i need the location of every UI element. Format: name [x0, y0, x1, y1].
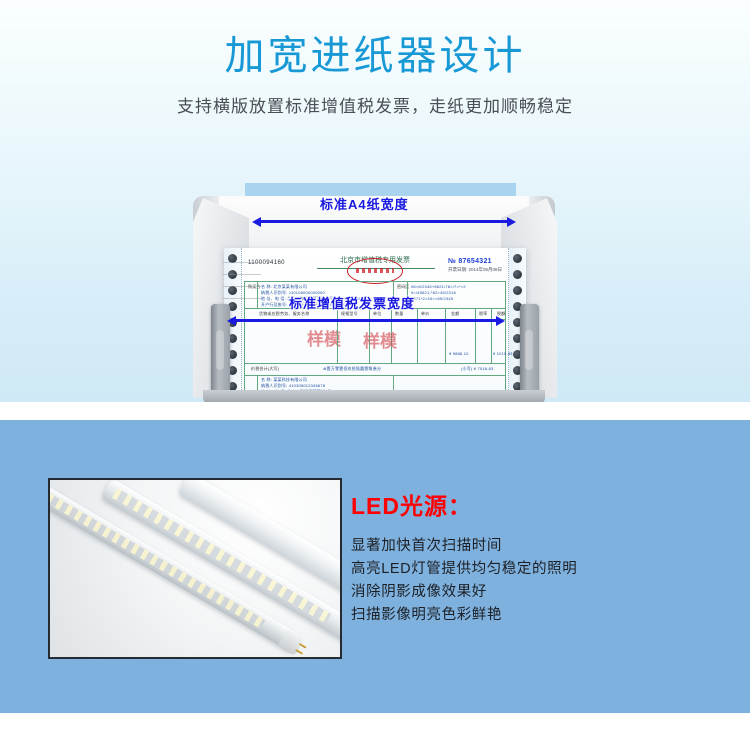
- led-tubes-photo: [48, 478, 342, 659]
- serial-prefix: №: [448, 258, 456, 265]
- led-light-source-section: LED光源： 显著加快首次扫描时间 高亮LED灯管提供均匀稳定的照明 消除阴影成…: [0, 420, 750, 713]
- led-feature-item: 扫描影像明亮色彩鲜艳: [351, 604, 681, 627]
- a4-width-label: 标准A4纸宽度: [320, 194, 409, 213]
- a4-width-arrow-icon: [261, 220, 507, 223]
- page-subtitle: 支持横版放置标准增值税发票，走纸更加顺畅稳定: [0, 98, 750, 115]
- serial-value: 87654321: [458, 258, 492, 265]
- photo-background: [50, 480, 340, 657]
- invoice-width-label: 标准增值税发票宽度: [289, 293, 415, 312]
- invoice-date: 开票日期: 2014年05月08日: [448, 267, 502, 273]
- scanner-base: [203, 390, 545, 402]
- guide-grip-left: [216, 330, 224, 370]
- page-title: 加宽进纸器设计: [0, 36, 750, 76]
- guide-grip-right: [525, 330, 533, 370]
- paper-feeder-section: 加宽进纸器设计 支持横版放置标准增值税发票，走纸更加顺畅稳定: [0, 0, 750, 402]
- invoice-width-arrow-icon: [236, 319, 496, 322]
- product-detail-page: 加宽进纸器设计 支持横版放置标准增值税发票，走纸更加顺畅稳定: [0, 0, 750, 732]
- invoice-serial: № 87654321 开票日期: 2014年05月08日: [448, 258, 502, 273]
- led-heading: LED光源：: [351, 495, 472, 518]
- invoice-header: 1100094160 北京市增值税专用发票 № 87654321 开票日期: 2…: [244, 251, 506, 281]
- invoice-body: 1100094160 北京市增值税专用发票 № 87654321 开票日期: 2…: [244, 251, 506, 395]
- led-feature-item: 显著加快首次扫描时间: [351, 535, 681, 558]
- led-feature-list: 显著加快首次扫描时间 高亮LED灯管提供均匀稳定的照明 消除阴影成像效果好 扫描…: [351, 535, 681, 627]
- sample-watermark-2: 样模: [363, 327, 397, 352]
- led-feature-item: 消除阴影成像效果好: [351, 581, 681, 604]
- feeder-rails: [223, 262, 261, 308]
- led-feature-item: 高亮LED灯管提供均匀稳定的照明: [351, 558, 681, 581]
- invoice-paper: 1100094160 北京市增值税专用发票 № 87654321 开票日期: 2…: [224, 248, 526, 398]
- paper-guide-right[interactable]: [520, 304, 539, 396]
